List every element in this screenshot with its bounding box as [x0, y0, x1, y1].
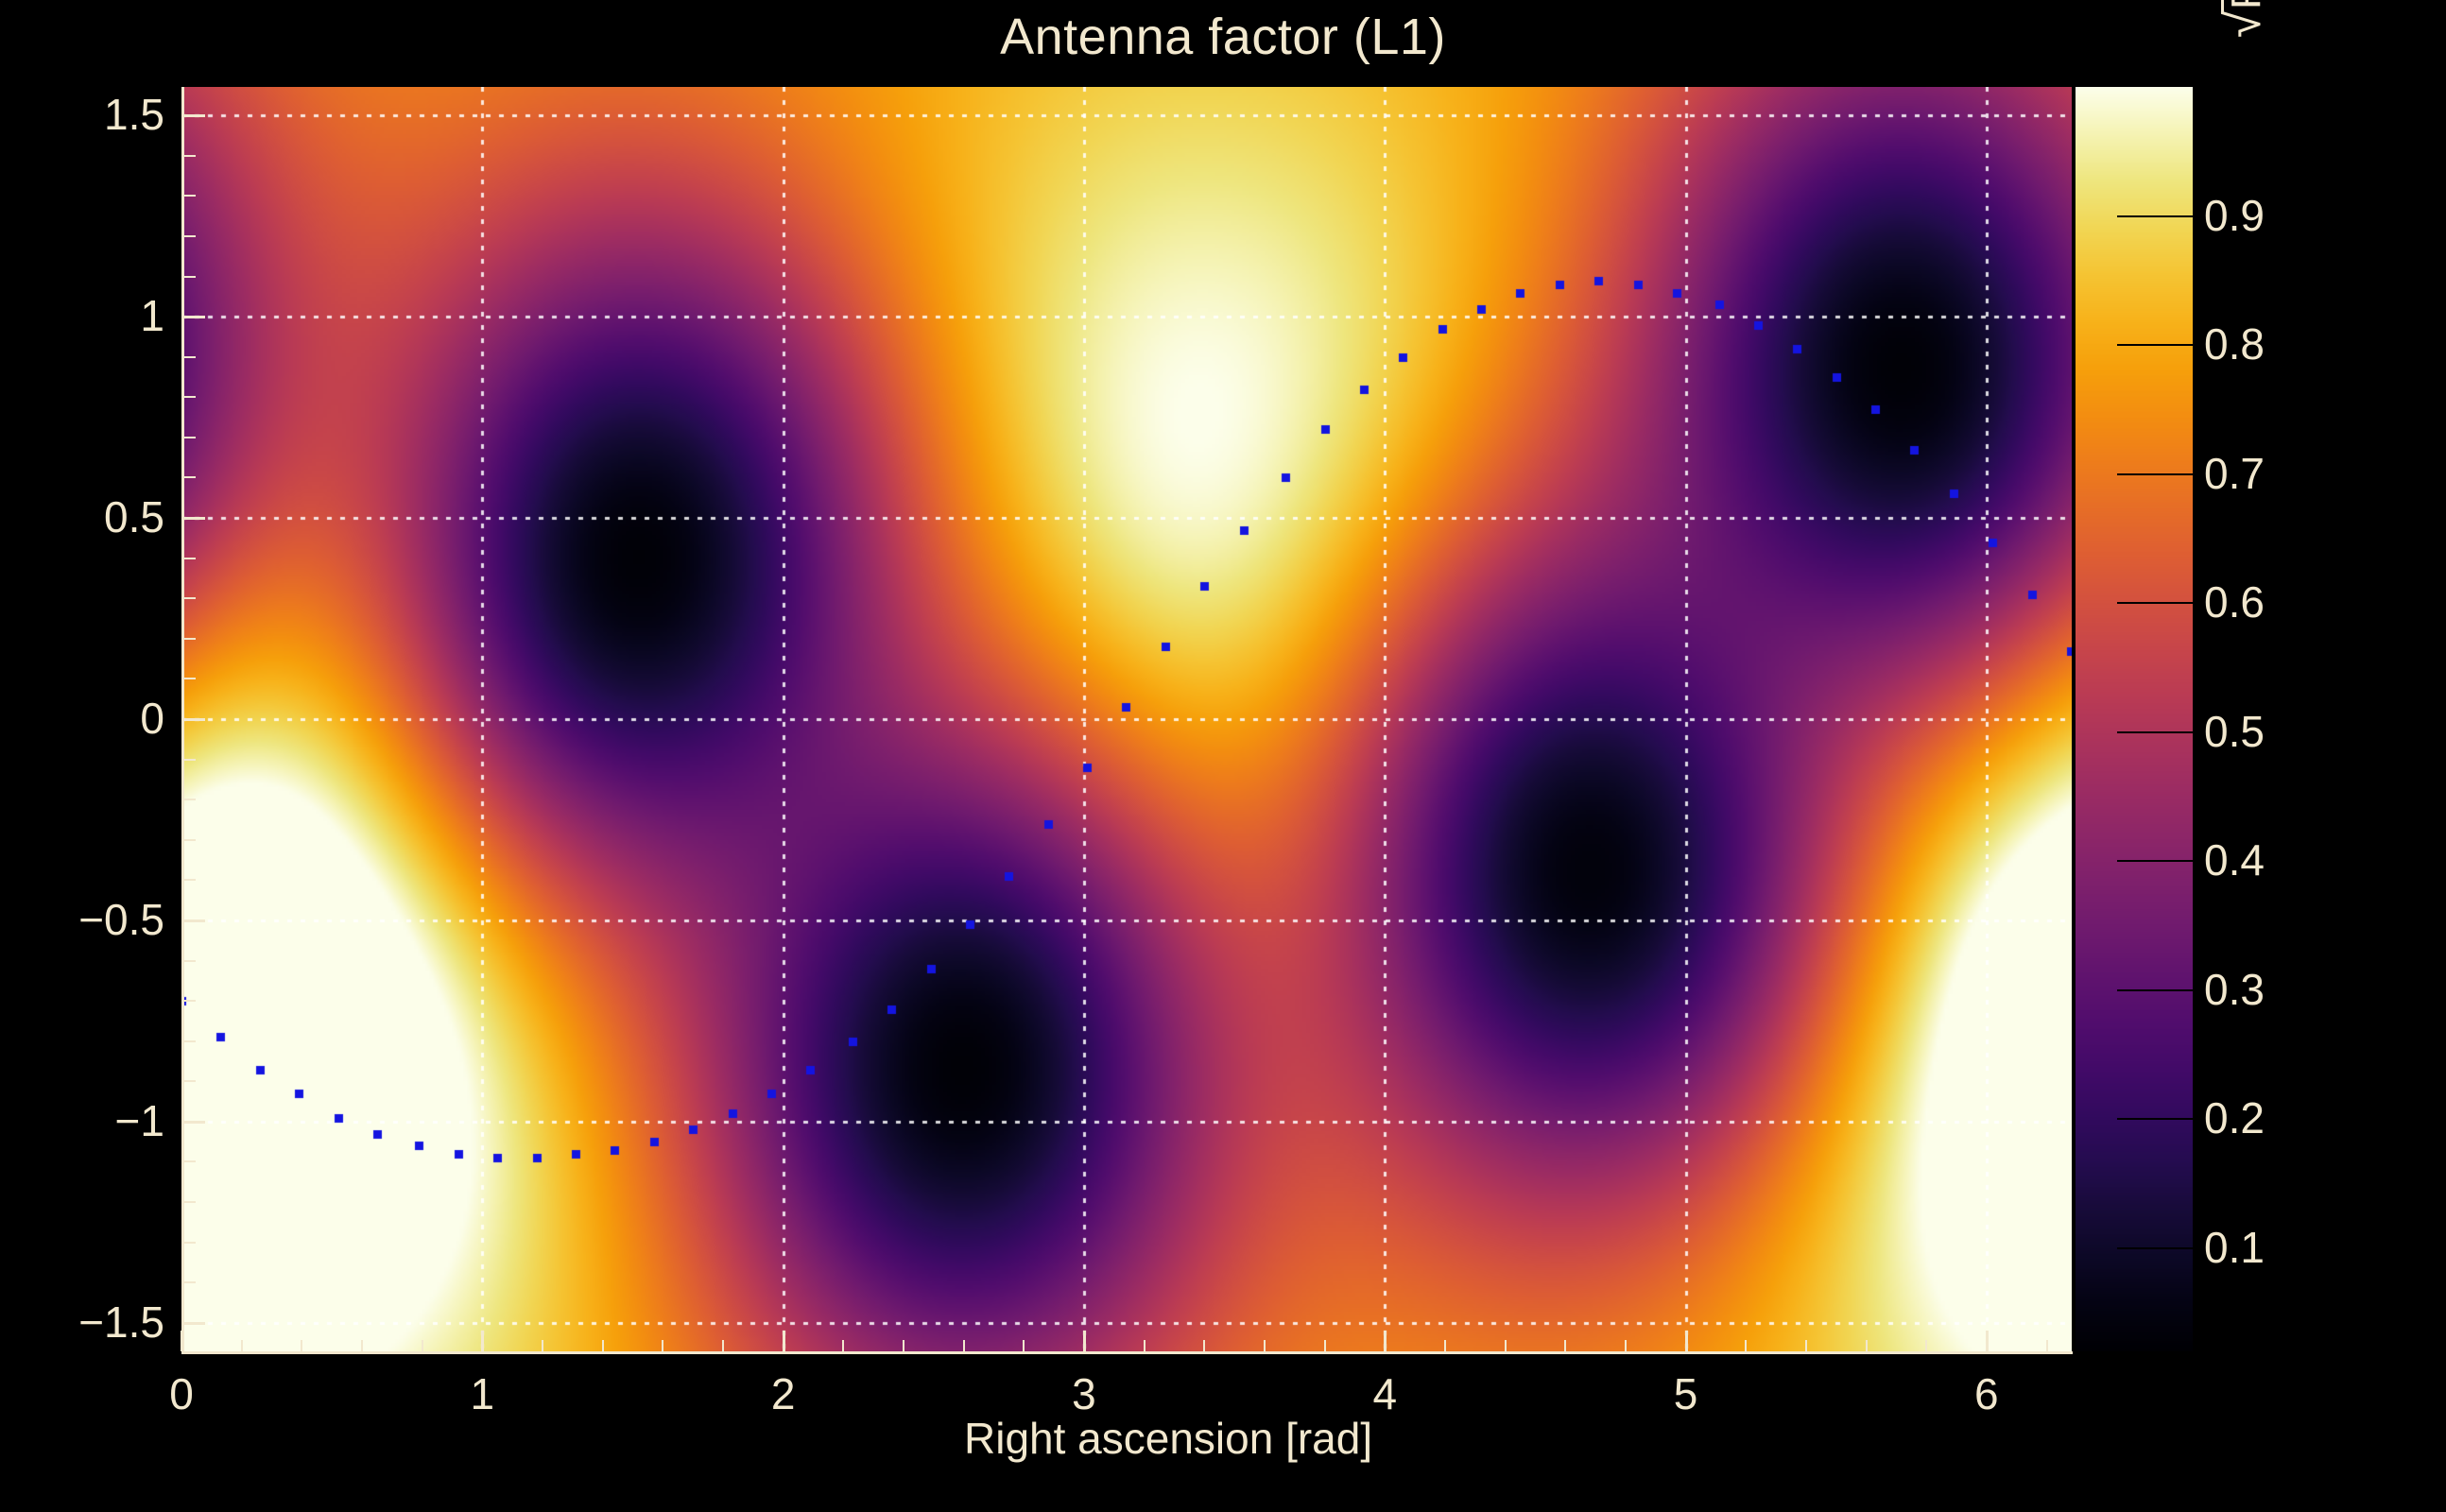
x-tick-mark	[1083, 1331, 1086, 1351]
colorbar-tick-label: 0.4	[2204, 834, 2265, 885]
x-minor-tick	[722, 1340, 724, 1351]
colorbar-tick-mark	[2117, 1118, 2193, 1120]
y-minor-tick	[184, 1201, 196, 1203]
x-minor-tick	[1444, 1340, 1446, 1351]
colorbar-tick-label: 0.9	[2204, 190, 2265, 241]
x-minor-tick	[422, 1340, 423, 1351]
heatmap-plot-area	[181, 87, 2072, 1351]
x-minor-tick	[241, 1340, 243, 1351]
x-minor-tick	[963, 1340, 965, 1351]
x-minor-tick	[1023, 1340, 1025, 1351]
y-minor-tick	[184, 759, 196, 761]
y-tick-mark	[184, 316, 205, 318]
chart-canvas: Antenna factor (L1) 0123456 1.510.50−0.5…	[0, 0, 2446, 1512]
y-minor-tick	[184, 396, 196, 398]
y-minor-tick	[184, 1242, 196, 1244]
y-tick-mark	[184, 718, 205, 721]
colorbar-tick-mark	[2117, 1247, 2193, 1249]
y-minor-tick	[184, 1040, 196, 1042]
page-title: Antenna factor (L1)	[0, 8, 2446, 66]
colorbar-tick-mark	[2117, 215, 2193, 217]
y-minor-tick	[184, 437, 196, 438]
y-minor-tick	[184, 960, 196, 962]
x-tick-label: 4	[1328, 1368, 1441, 1419]
y-tick-mark	[184, 919, 205, 922]
x-tick-label: 1	[425, 1368, 539, 1419]
x-tick-label: 2	[727, 1368, 840, 1419]
x-tick-mark	[1986, 1331, 1989, 1351]
y-tick-label: 1	[0, 290, 164, 341]
x-minor-tick	[1745, 1340, 1747, 1351]
y-tick-label: −1.5	[0, 1297, 164, 1348]
x-minor-tick	[1564, 1340, 1566, 1351]
colorbar-gradient	[2076, 87, 2193, 1351]
sqrt-overbar	[2221, 0, 2224, 13]
x-minor-tick	[1925, 1340, 1927, 1351]
y-minor-tick	[184, 1281, 196, 1283]
y-minor-tick	[184, 476, 196, 478]
colorbar-tick-label: 0.6	[2204, 576, 2265, 627]
x-tick-mark	[1685, 1331, 1688, 1351]
y-tick-label: 0	[0, 693, 164, 744]
x-tick-mark	[481, 1331, 484, 1351]
y-minor-tick	[184, 235, 196, 237]
x-tick-label: 0	[125, 1368, 238, 1419]
x-minor-tick	[903, 1340, 904, 1351]
x-minor-tick	[301, 1340, 302, 1351]
x-minor-tick	[1625, 1340, 1627, 1351]
x-minor-tick	[1505, 1340, 1507, 1351]
y-minor-tick	[184, 155, 196, 157]
y-minor-tick	[184, 558, 196, 559]
x-tick-label: 3	[1027, 1368, 1141, 1419]
x-tick-mark	[181, 1331, 183, 1351]
colorbar-tick-label: 0.2	[2204, 1092, 2265, 1143]
y-tick-mark	[184, 114, 205, 117]
y-tick-mark	[184, 1322, 205, 1325]
y-minor-tick	[184, 195, 196, 197]
y-tick-label: 0.5	[0, 491, 164, 542]
x-axis-title: Right ascension [rad]	[964, 1413, 1372, 1464]
y-tick-mark	[184, 1121, 205, 1124]
heatmap-image	[181, 87, 2072, 1351]
colorbar-tick-mark	[2117, 473, 2193, 475]
y-minor-tick	[184, 1000, 196, 1002]
x-minor-tick	[1264, 1340, 1266, 1351]
x-axis-line	[181, 1351, 2073, 1354]
x-minor-tick	[602, 1340, 604, 1351]
y-minor-tick	[184, 356, 196, 358]
colorbar-tick-mark	[2117, 860, 2193, 862]
colorbar-tick-mark	[2117, 344, 2193, 346]
colorbar	[2076, 87, 2193, 1351]
y-tick-mark	[184, 517, 205, 520]
y-tick-label: 1.5	[0, 89, 164, 140]
x-minor-tick	[1144, 1340, 1145, 1351]
x-minor-tick	[542, 1340, 543, 1351]
x-minor-tick	[2046, 1340, 2048, 1351]
x-tick-label: 5	[1629, 1368, 1743, 1419]
y-minor-tick	[184, 799, 196, 800]
colorbar-title: √ F+2 + Fx2	[2223, 0, 2273, 38]
colorbar-tick-label: 0.1	[2204, 1222, 2265, 1273]
x-tick-mark	[783, 1331, 785, 1351]
y-minor-tick	[184, 1160, 196, 1162]
colorbar-tick-label: 0.3	[2204, 964, 2265, 1015]
y-tick-label: −1	[0, 1095, 164, 1146]
x-minor-tick	[1203, 1340, 1205, 1351]
x-minor-tick	[1866, 1340, 1868, 1351]
sqrt-icon: √	[2219, 10, 2268, 38]
colorbar-tick-mark	[2117, 602, 2193, 604]
y-tick-label: −0.5	[0, 894, 164, 945]
colorbar-tick-mark	[2117, 989, 2193, 991]
y-minor-tick	[184, 678, 196, 679]
colorbar-term1-base: F	[2223, 0, 2269, 9]
y-minor-tick	[184, 638, 196, 640]
y-minor-tick	[184, 597, 196, 599]
x-tick-label: 6	[1930, 1368, 2043, 1419]
y-minor-tick	[184, 276, 196, 278]
x-minor-tick	[1324, 1340, 1326, 1351]
x-minor-tick	[1805, 1340, 1807, 1351]
x-tick-mark	[1384, 1331, 1387, 1351]
colorbar-tick-label: 0.5	[2204, 706, 2265, 757]
colorbar-tick-label: 0.8	[2204, 318, 2265, 369]
y-minor-tick	[184, 839, 196, 841]
colorbar-tick-mark	[2117, 731, 2193, 733]
y-minor-tick	[184, 1080, 196, 1082]
x-minor-tick	[361, 1340, 363, 1351]
y-minor-tick	[184, 879, 196, 881]
colorbar-tick-label: 0.7	[2204, 448, 2265, 499]
x-minor-tick	[662, 1340, 663, 1351]
x-minor-tick	[842, 1340, 844, 1351]
